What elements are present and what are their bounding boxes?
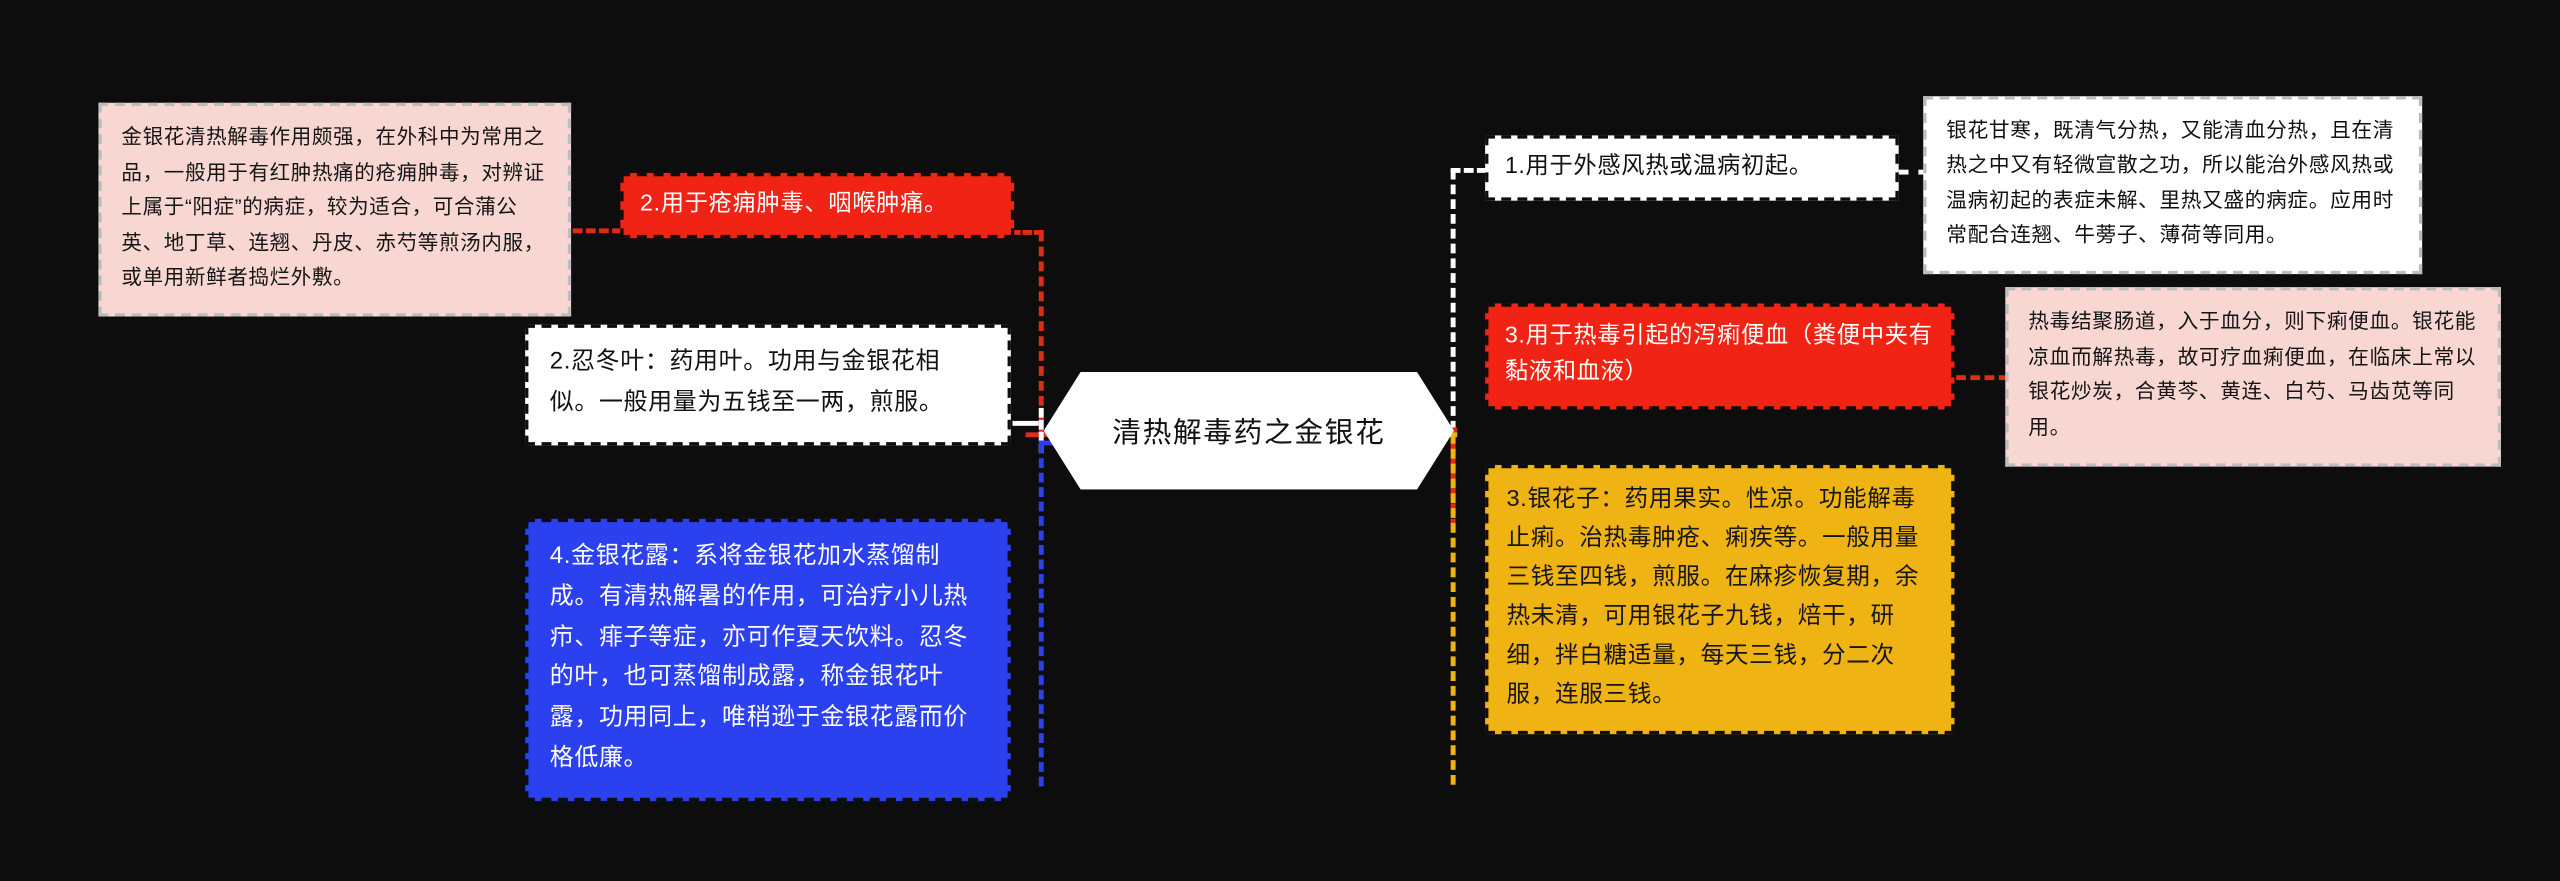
connector-left-red-join xyxy=(1026,432,1049,437)
center-node-label: 清热解毒药之金银花 xyxy=(1112,410,1385,451)
connector-left-blue-trunk xyxy=(1039,444,1044,787)
center-node[interactable]: 清热解毒药之金银花 xyxy=(1044,372,1454,489)
connector-right-red-detail-stub xyxy=(1956,375,2009,380)
connector-right-white-stub xyxy=(1451,168,1487,173)
branch-node-right-white[interactable]: 1.用于外感风热或温病初起。 xyxy=(1485,135,1899,201)
connector-left-white-stub xyxy=(1013,421,1039,426)
branch-node-right-gold[interactable]: 3.银花子：药用果实。性凉。功能解毒止痢。治热毒肿疮、痢疾等。一般用量三钱至四钱… xyxy=(1485,465,1954,735)
mindmap-canvas: 金银花清热解毒作用颇强，在外科中为常用之品，一般用于有红肿热痛的疮痈肿毒，对辨证… xyxy=(0,0,2560,881)
connector-right-white-trunk xyxy=(1451,170,1456,431)
branch-node-left-white[interactable]: 2.忍冬叶：药用叶。功用与金银花相似。一般用量为五钱至一两，煎服。 xyxy=(525,325,1011,446)
detail-box-right-white[interactable]: 银花甘寒，既清气分热，又能清血分热，且在清热之中又有轻微宣散之功，所以能治外感风… xyxy=(1923,96,2422,273)
branch-node-left-red[interactable]: 2.用于疮痈肿毒、咽喉肿痛。 xyxy=(620,173,1014,239)
connector-left-detail-stub xyxy=(573,228,622,233)
detail-box-left-red[interactable]: 金银花清热解毒作用颇强，在外科中为常用之品，一般用于有红肿热痛的疮痈肿毒，对辨证… xyxy=(98,103,571,316)
connector-left-red-stub xyxy=(1011,230,1044,235)
connector-right-gold-trunk xyxy=(1451,434,1456,785)
connector-left-red-trunk xyxy=(1039,232,1044,436)
branch-node-left-blue[interactable]: 4.金银花露：系将金银花加水蒸馏制成。有清热解暑的作用，可治疗小儿热疖、痱子等症… xyxy=(525,519,1011,801)
detail-box-right-red[interactable]: 热毒结聚肠道，入于血分，则下痢便血。银花能凉血而解热毒，故可疗血痢便血，在临床上… xyxy=(2005,287,2501,466)
branch-node-right-red[interactable]: 3.用于热毒引起的泻痢便血（粪便中夹有黏液和血液） xyxy=(1485,303,1954,409)
